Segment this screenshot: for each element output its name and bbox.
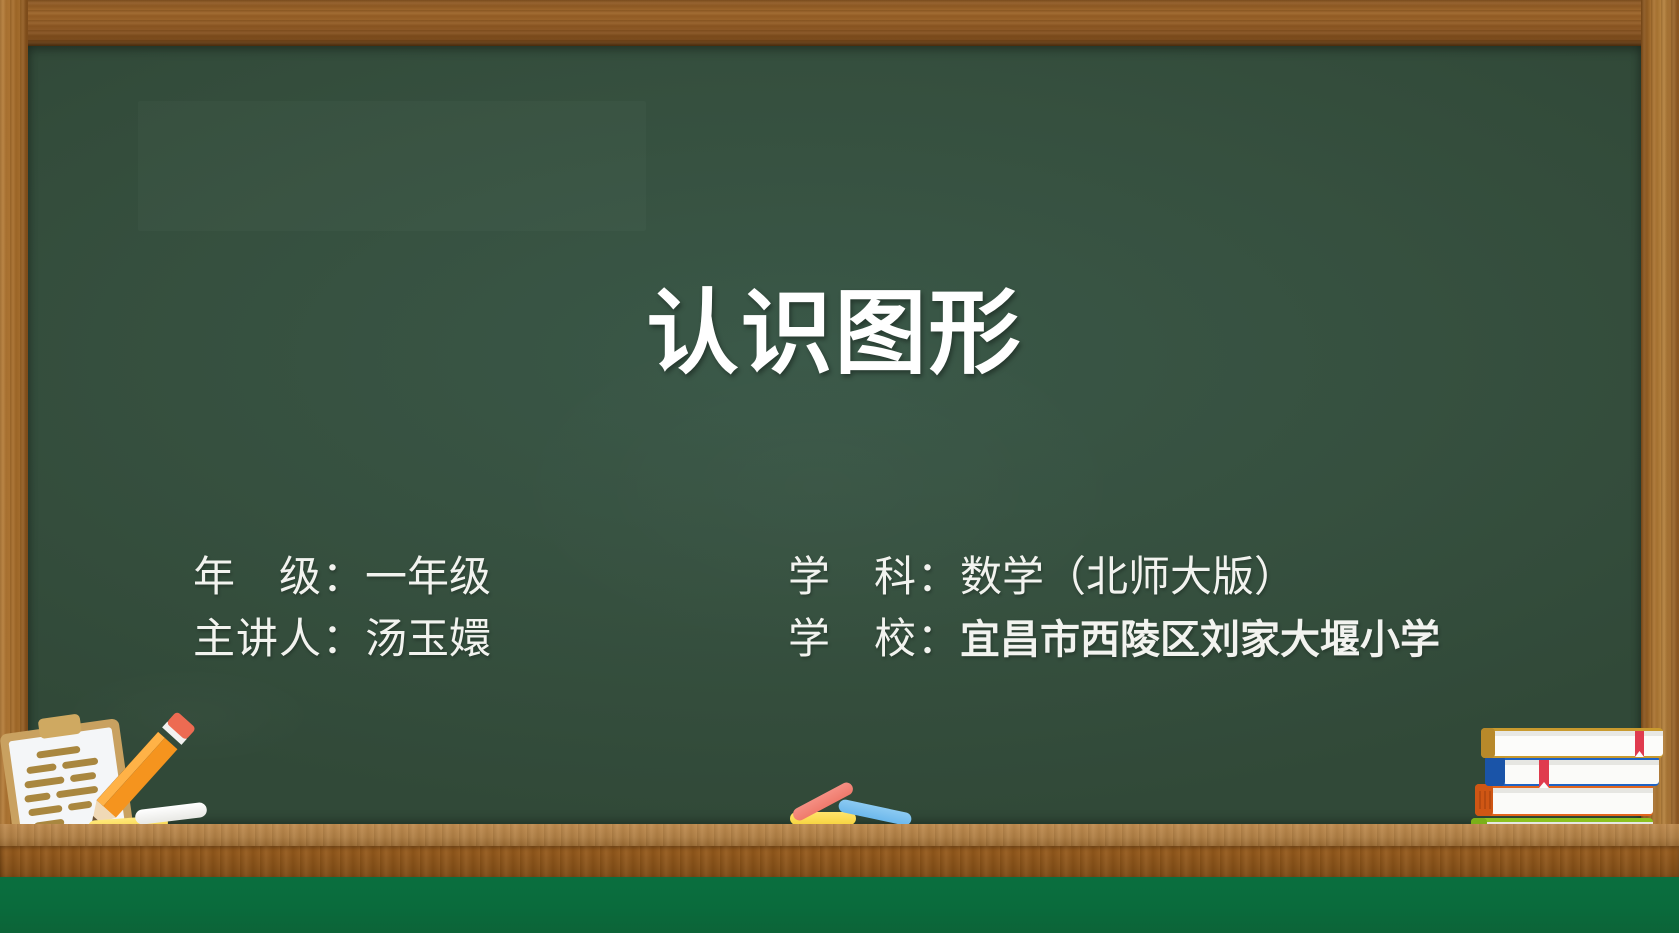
ledge-front-face: [0, 846, 1679, 877]
meta-row-presenter: 主讲人：汤玉嬛: [193, 608, 491, 670]
meta-label-grade: 年 级：: [193, 552, 365, 601]
meta-value-subject: 数学（北师大版）: [960, 552, 1296, 601]
lesson-meta: 年 级：一年级 主讲人：汤玉嬛 学 科：数学（北师大版） 学 校：宜昌市西陵区刘…: [28, 546, 1641, 696]
footer-strip: [0, 877, 1679, 933]
meta-value-presenter: 汤玉嬛: [365, 614, 491, 663]
meta-value-school: 宜昌市西陵区刘家大堰小学: [960, 617, 1440, 663]
meta-label-school: 学 校：: [788, 614, 960, 663]
frame-top-rail: [0, 0, 1679, 46]
meta-label-presenter: 主讲人：: [193, 614, 365, 663]
page-title: 认识图形: [28, 286, 1641, 383]
chalkboard-surface: 认识图形 年 级：一年级 主讲人：汤玉嬛 学 科：数学（北师大版） 学 校：宜昌…: [28, 46, 1641, 824]
board-smudge-patch: [138, 101, 646, 231]
meta-row-school: 学 校：宜昌市西陵区刘家大堰小学: [788, 608, 1440, 671]
meta-value-grade: 一年级: [365, 552, 491, 601]
meta-label-subject: 学 科：: [788, 552, 960, 601]
chalkboard-ledge: [0, 824, 1679, 877]
meta-row-grade: 年 级：一年级: [193, 546, 491, 608]
lesson-meta-right-column: 学 科：数学（北师大版） 学 校：宜昌市西陵区刘家大堰小学: [788, 546, 1440, 671]
lesson-title-slide: 认识图形 年 级：一年级 主讲人：汤玉嬛 学 科：数学（北师大版） 学 校：宜昌…: [0, 0, 1679, 933]
lesson-meta-left-column: 年 级：一年级 主讲人：汤玉嬛: [193, 546, 491, 670]
ledge-top-surface: [0, 824, 1679, 846]
meta-row-subject: 学 科：数学（北师大版）: [788, 546, 1440, 608]
